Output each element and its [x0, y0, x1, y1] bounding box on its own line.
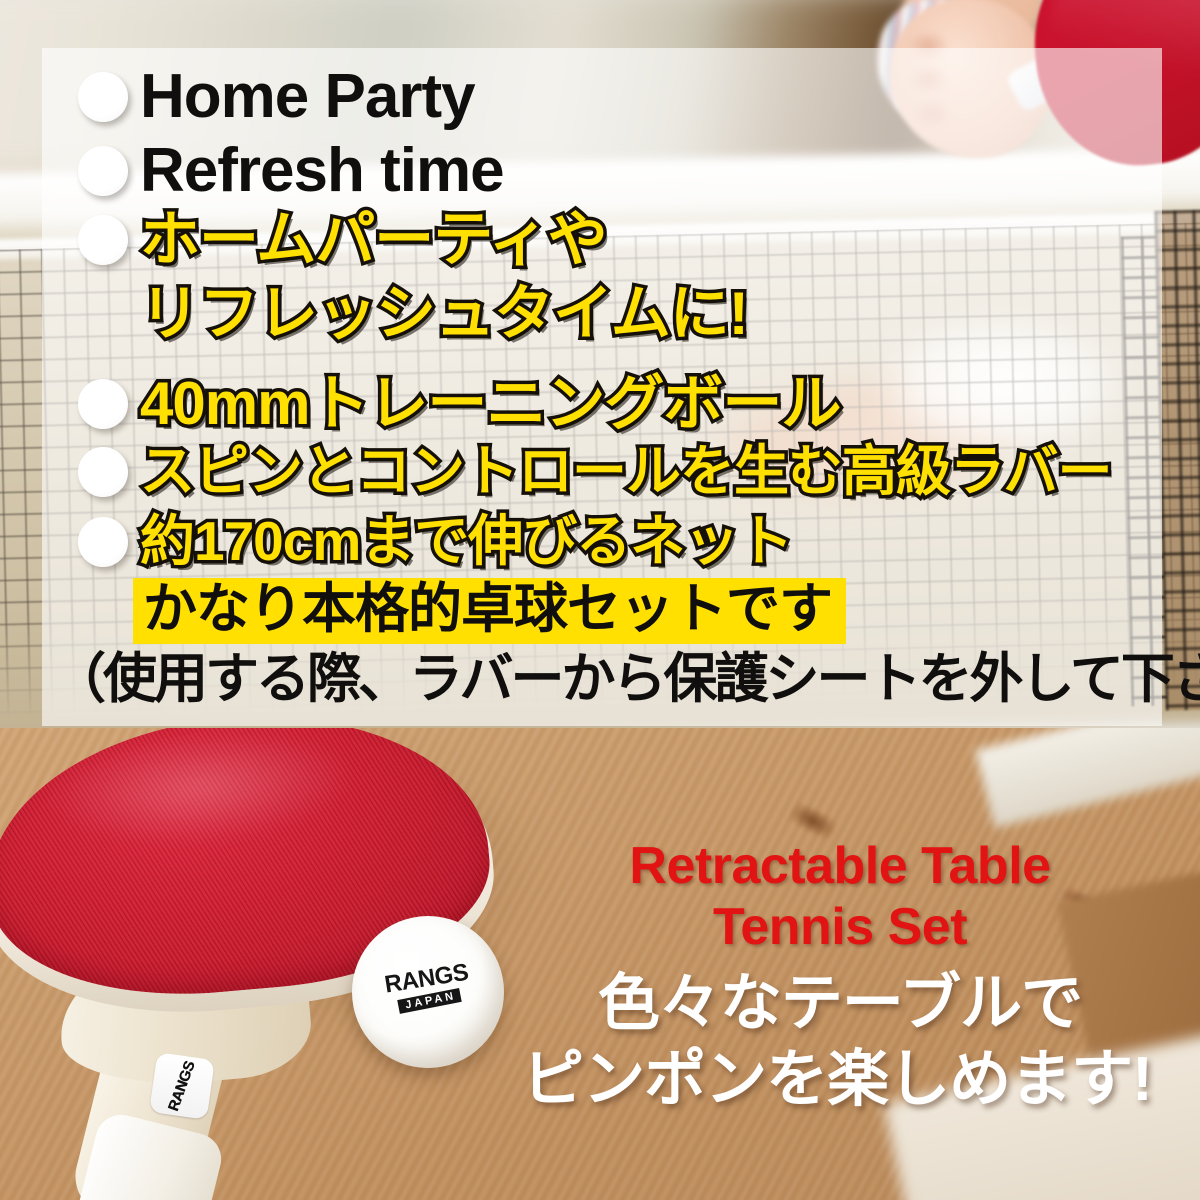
- english-product-title: Retractable Table Tennis Set: [560, 836, 1120, 959]
- feature-row-home-party-jp: ホームパーティや: [78, 210, 607, 270]
- bullet-icon: [78, 146, 128, 196]
- feature-label: リフレッシュタイムに!: [140, 284, 748, 344]
- bullet-icon: [78, 517, 128, 567]
- feature-row-net-170cm: 約170cmまで伸びるネット: [78, 514, 792, 569]
- feature-list: Home Party Refresh time ホームパーティや リフレッシュタ…: [0, 0, 1200, 732]
- feature-row-refresh-jp: リフレッシュタイムに!: [140, 284, 748, 344]
- feature-label: Home Party: [140, 66, 475, 128]
- japanese-tagline-line-2: ピンポンを楽しめます!: [514, 1042, 1160, 1118]
- feature-label: ホームパーティや: [140, 210, 607, 270]
- usage-note: （使用する際、ラバーから保護シートを外して下さい）: [52, 652, 1200, 706]
- feature-label: Refresh time: [140, 140, 504, 202]
- feature-row-ball-40mm: 40mmトレーニングボール: [78, 374, 840, 434]
- bullet-icon: [78, 447, 128, 497]
- feature-label: スピンとコントロールを生む高級ラバー: [140, 444, 1111, 499]
- highlight-label: かなり本格的卓球セットです: [143, 579, 832, 639]
- english-title-line-1: Retractable Table: [560, 836, 1120, 897]
- feature-row-refresh-time: Refresh time: [78, 140, 504, 202]
- feature-row-rubber: スピンとコントロールを生む高級ラバー: [78, 444, 1111, 499]
- product-promo-image: Home Party Refresh time ホームパーティや リフレッシュタ…: [0, 0, 1200, 1200]
- english-title-line-2: Tennis Set: [560, 897, 1120, 958]
- bottom-text-block: Retractable Table Tennis Set 色々なテーブルで ピン…: [0, 728, 1200, 1200]
- japanese-tagline: 色々なテーブルで ピンポンを楽しめます!: [520, 966, 1160, 1117]
- highlight-banner: かなり本格的卓球セットです: [133, 578, 846, 644]
- feature-row-home-party: Home Party: [78, 66, 475, 128]
- bullet-icon: [78, 379, 128, 429]
- japanese-tagline-line-1: 色々なテーブルで: [520, 966, 1160, 1042]
- bullet-icon: [78, 215, 128, 265]
- feature-label: 40mmトレーニングボール: [140, 374, 840, 434]
- feature-label: 約170cmまで伸びるネット: [140, 514, 792, 569]
- bullet-icon: [78, 72, 128, 122]
